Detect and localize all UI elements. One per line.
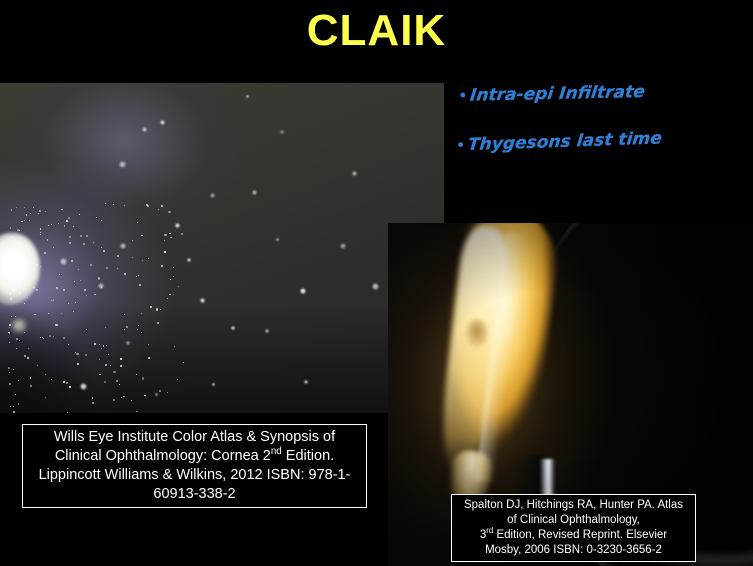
infiltrate-dot <box>159 390 161 392</box>
infiltrate-lesion <box>120 243 126 249</box>
infiltrate-dot <box>53 336 54 337</box>
infiltrate-dot <box>19 340 20 341</box>
infiltrate-dot <box>36 289 38 291</box>
infiltrate-dot <box>80 235 82 237</box>
infiltrate-dot <box>138 325 139 326</box>
infiltrate-dot <box>119 384 120 385</box>
citation-line: Wills Eye Institute Color Atlas & Synops… <box>23 428 366 447</box>
infiltrate-dot <box>105 364 107 366</box>
infiltrate-lesion <box>200 298 205 303</box>
infiltrate-dot <box>24 303 25 304</box>
infiltrate-dot <box>36 264 38 266</box>
infiltrate-lesion <box>340 243 346 249</box>
infiltrate-lesion <box>80 383 87 390</box>
infiltrate-dot <box>141 332 142 333</box>
infiltrate-dot <box>11 237 13 239</box>
infiltrate-dot <box>139 284 141 286</box>
infiltrate-dot <box>113 371 115 373</box>
infiltrate-dot <box>146 204 148 206</box>
infiltrate-dot <box>9 324 11 326</box>
infiltrate-dot <box>59 274 60 275</box>
citation-line: Spalton DJ, Hitchings RA, Hunter PA. Atl… <box>452 498 695 513</box>
infiltrate-dot <box>45 211 46 212</box>
infiltrate-dot <box>101 247 102 248</box>
page-title: CLAIK <box>0 4 753 58</box>
infiltrate-dot <box>29 220 30 221</box>
infiltrate-lesion <box>60 258 67 265</box>
infiltrate-dot <box>126 326 128 328</box>
infiltrate-dot <box>22 254 23 255</box>
note-bullet-icon: • <box>459 88 468 103</box>
infiltrate-dot <box>160 309 161 310</box>
infiltrate-dot <box>138 275 139 276</box>
infiltrate-dot <box>121 397 122 398</box>
infiltrate-dot <box>170 279 171 280</box>
infiltrate-dot <box>80 280 81 281</box>
infiltrate-dot <box>24 220 25 221</box>
infiltrate-dot <box>96 217 97 218</box>
note-text: Thygesons last time <box>467 128 663 155</box>
infiltrate-dot <box>132 240 133 241</box>
citation-line: 3rd Edition, Revised Reprint. Elsevier <box>452 528 695 543</box>
infiltrate-dot <box>164 234 166 236</box>
infiltrate-lesion <box>372 283 379 290</box>
note-text: Intra-epi Infiltrate <box>469 82 646 106</box>
infiltrate-lesion <box>231 326 235 330</box>
citation-line-part: Edition, Revised Reprint. Elsevier <box>493 529 667 541</box>
citation-line: Mosby, 2006 ISBN: 0-3230-3656-2 <box>452 543 695 558</box>
infiltrate-dot <box>99 344 100 345</box>
infiltrate-dot <box>69 242 70 243</box>
infiltrate-dot <box>93 242 94 243</box>
infiltrate-dot <box>15 316 16 317</box>
infiltrate-dot <box>61 313 62 314</box>
infiltrate-dot <box>16 348 17 349</box>
infiltrate-dot <box>18 380 19 381</box>
infiltrate-dot <box>18 403 19 404</box>
infiltrate-dot <box>116 380 118 382</box>
infiltrate-dot <box>167 298 168 299</box>
infiltrate-dot <box>30 213 31 214</box>
infiltrate-dot <box>183 362 184 363</box>
infiltrate-dot <box>14 258 15 259</box>
infiltrate-dot <box>63 337 65 339</box>
infiltrate-dot <box>26 214 28 216</box>
infiltrate-dot <box>27 357 29 359</box>
infiltrate-dot <box>75 302 76 303</box>
infiltrate-dot <box>169 294 170 295</box>
infiltrate-dot <box>30 385 32 387</box>
infiltrate-dot <box>15 394 16 395</box>
infiltrate-dot <box>24 355 26 357</box>
citation-line-part: Clinical Ophthalmology: Cornea 2 <box>55 448 271 464</box>
infiltrate-dot <box>27 297 28 298</box>
ordinal-suffix: nd <box>271 446 282 457</box>
infiltrate-dot <box>18 284 19 285</box>
infiltrate-dot <box>69 236 71 238</box>
infiltrate-dot <box>101 220 102 221</box>
infiltrate-dot <box>10 406 11 407</box>
infiltrate-lesion <box>300 288 306 294</box>
infiltrate-dot <box>173 267 174 268</box>
citation-line: Clinical Ophthalmology: Cornea 2nd Editi… <box>23 447 366 466</box>
infiltrate-dot <box>174 346 175 347</box>
infiltrate-dot <box>21 221 23 223</box>
infiltrate-dot <box>18 242 19 243</box>
infiltrate-lesion <box>352 171 357 176</box>
infiltrate-dot <box>45 374 46 375</box>
infiltrate-dot <box>177 379 178 380</box>
infiltrate-dot <box>170 237 172 239</box>
infiltrate-lesion <box>246 95 249 98</box>
infiltrate-dot <box>51 300 52 301</box>
infiltrate-dot <box>113 204 114 205</box>
infiltrate-dot <box>40 266 41 267</box>
infiltrate-dot <box>105 327 106 328</box>
infiltrate-dot <box>86 329 87 330</box>
infiltrate-dot <box>132 257 133 258</box>
citation-box-right: Spalton DJ, Hitchings RA, Hunter PA. Atl… <box>451 494 696 562</box>
citation-box-left: Wills Eye Institute Color Atlas & Synops… <box>22 424 367 508</box>
infiltrate-dot <box>148 357 150 359</box>
infiltrate-dot <box>68 217 70 219</box>
infiltrate-dot <box>9 342 10 343</box>
infiltrate-dot <box>48 225 49 226</box>
infiltrate-dot <box>9 327 10 328</box>
infiltrate-lesion <box>119 161 126 168</box>
infiltrate-dot <box>24 332 25 333</box>
infiltrate-dot <box>11 316 12 317</box>
infiltrate-dot <box>44 252 46 254</box>
infiltrate-dot <box>42 337 43 338</box>
slit-lamp-diffuse-photo <box>0 83 444 413</box>
presentation-slide: CLAIK •Intra-epi Infiltrate •Thygesons l… <box>0 0 753 566</box>
infiltrate-lesion <box>304 380 308 384</box>
infiltrate-dot <box>117 255 119 257</box>
note-bullet-icon: • <box>456 138 465 153</box>
handwritten-note-2: •Thygesons last time <box>456 128 663 155</box>
infiltrate-dot <box>90 264 92 266</box>
photo-shadow-bottom <box>0 303 444 413</box>
infiltrate-dot <box>58 223 59 224</box>
infiltrate-dot <box>99 359 100 360</box>
infiltrate-dot <box>14 286 15 287</box>
infiltrate-dot <box>157 322 159 324</box>
infiltrate-dot <box>113 399 115 401</box>
infiltrate-dot <box>9 372 10 373</box>
infiltrate-dot <box>8 367 10 369</box>
infiltrate-dot <box>117 268 118 269</box>
infiltrate-dot <box>53 299 55 301</box>
infiltrate-lesion <box>142 127 147 132</box>
infiltrate-dot <box>67 412 68 413</box>
infiltrate-lesion <box>98 283 104 289</box>
infiltrate-dot <box>131 400 132 401</box>
infiltrate-dot <box>164 251 166 253</box>
infiltrate-dot <box>45 397 46 398</box>
infiltrate-dot <box>98 277 100 279</box>
infiltrate-dot <box>69 386 71 388</box>
infiltrate-dot <box>73 311 74 312</box>
infiltrate-dot <box>8 332 10 334</box>
infiltrate-dot <box>74 281 75 282</box>
infiltrate-dot <box>63 289 65 291</box>
infiltrate-dot <box>173 276 174 277</box>
infiltrate-dot <box>148 258 149 259</box>
infiltrate-dot <box>161 205 163 207</box>
infiltrate-dot <box>68 344 69 345</box>
citation-line-part: Edition. <box>282 448 334 464</box>
infiltrate-dot <box>181 233 183 235</box>
citation-line: Lippincott Williams & Wilkins, 2012 ISBN… <box>23 466 366 485</box>
infiltrate-dot <box>37 365 38 366</box>
infiltrate-dot <box>33 207 34 208</box>
citation-line: 60913-338-2 <box>23 485 366 504</box>
infiltrate-dot <box>13 369 14 370</box>
infiltrate-dot <box>120 358 122 360</box>
infiltrate-dot <box>64 225 65 226</box>
infiltrate-dot <box>148 344 149 345</box>
infiltrate-lesion <box>210 193 215 198</box>
infiltrate-dot <box>47 239 48 240</box>
infiltrate-dot <box>71 260 73 262</box>
handwritten-note-1: •Intra-epi Infiltrate <box>458 82 646 106</box>
infiltrate-dot <box>168 211 170 213</box>
infiltrate-dot <box>103 250 105 252</box>
infiltrate-dot <box>106 345 107 346</box>
